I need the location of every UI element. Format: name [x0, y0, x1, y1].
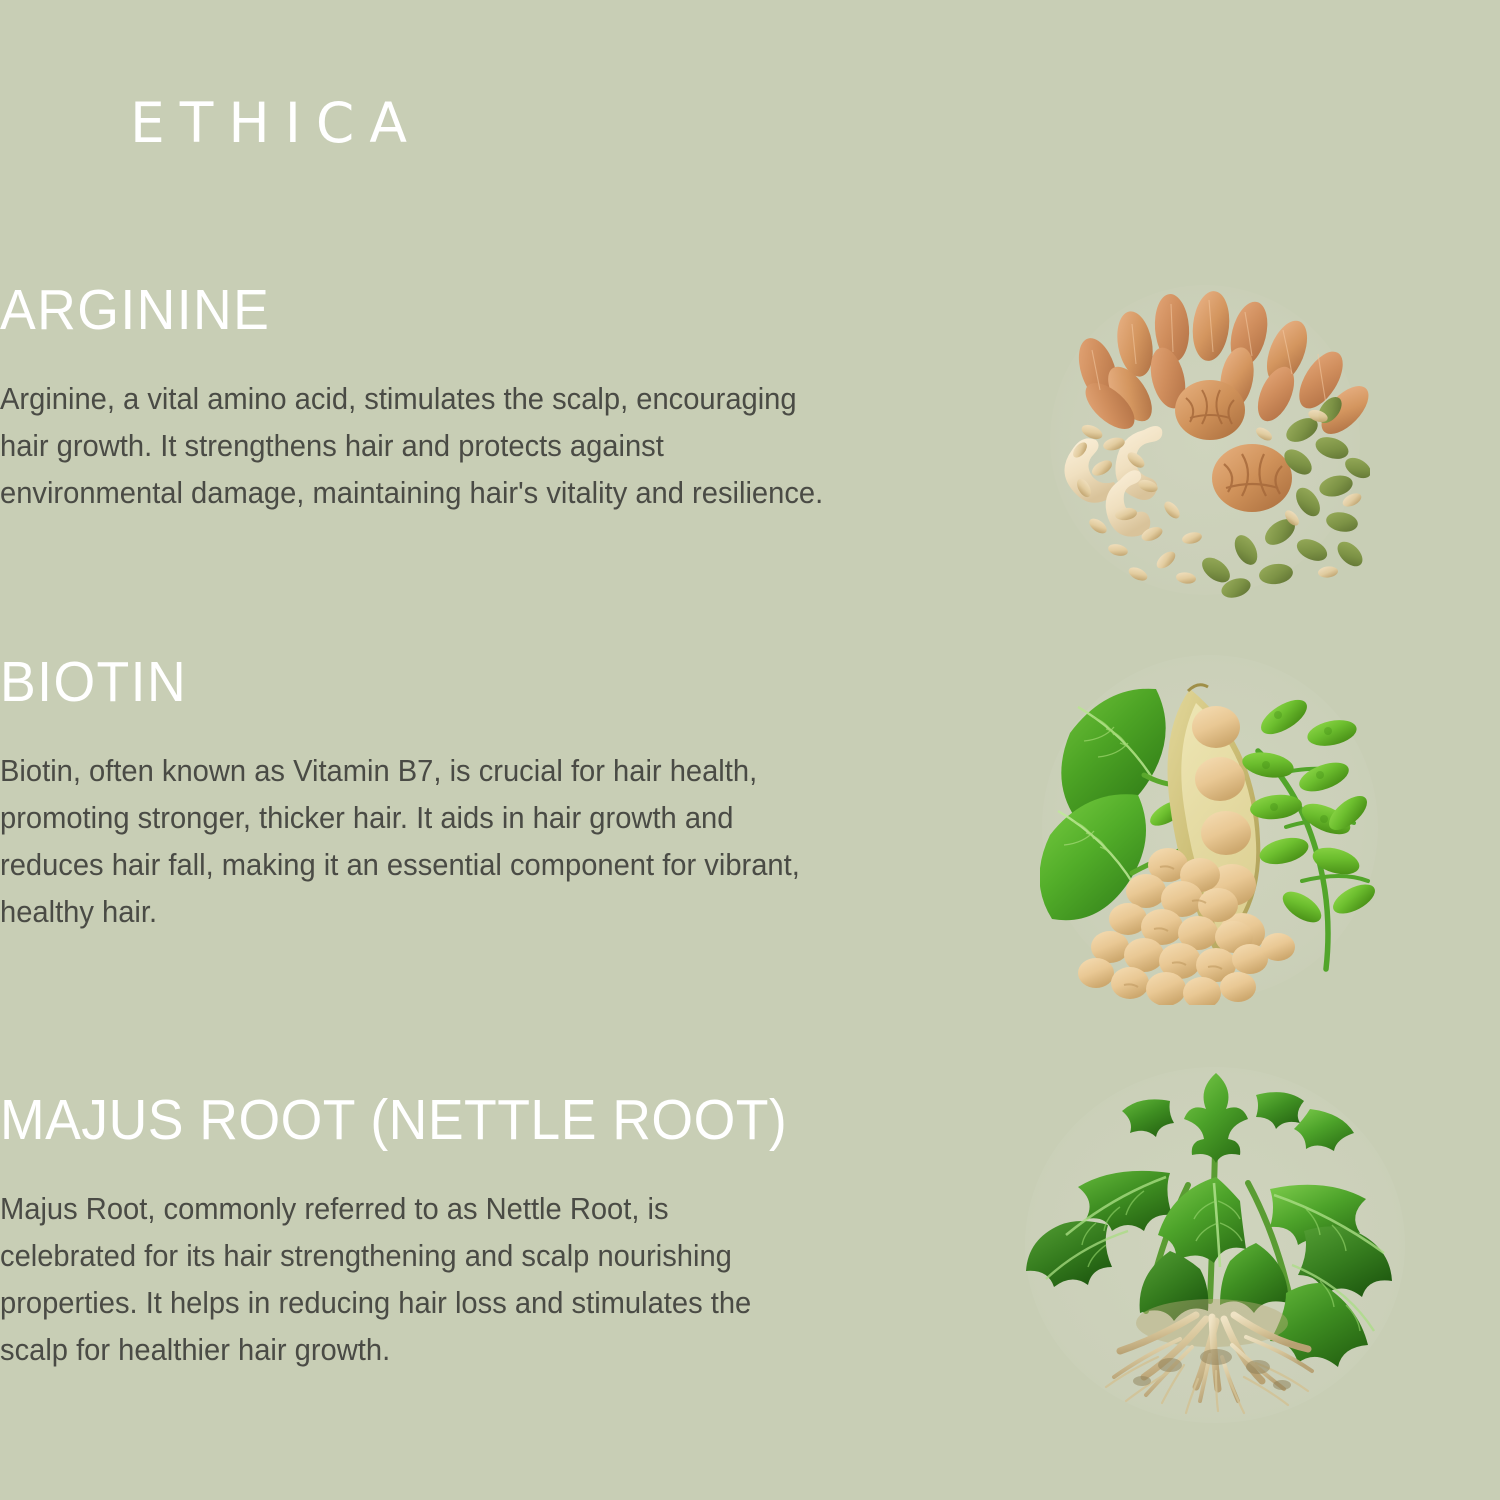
section-majus-root: MAJUS ROOT (NETTLE ROOT) Majus Root, com…	[0, 1090, 840, 1374]
section-body-biotin: Biotin, often known as Vitamin B7, is cr…	[0, 748, 821, 936]
section-arginine: ARGININE Arginine, a vital amino acid, s…	[0, 280, 840, 517]
section-title-biotin: BIOTIN	[0, 652, 790, 712]
section-title-arginine: ARGININE	[0, 280, 790, 340]
brand-logo: ETHICA	[130, 94, 422, 152]
section-body-majus-root: Majus Root, commonly referred to as Nett…	[0, 1186, 802, 1374]
section-biotin: BIOTIN Biotin, often known as Vitamin B7…	[0, 652, 840, 936]
mixed-nuts-and-seeds-photo	[1040, 282, 1370, 600]
nettle-plant-with-roots-photo	[1020, 1065, 1410, 1425]
section-body-arginine: Arginine, a vital amino acid, stimulates…	[0, 376, 840, 517]
ingredient-infographic-page: ETHICA ARGININE Arginine, a vital amino …	[0, 0, 1500, 1500]
soybeans-and-leaves-photo	[1040, 655, 1380, 1005]
section-title-majus-root: MAJUS ROOT (NETTLE ROOT)	[0, 1090, 790, 1150]
